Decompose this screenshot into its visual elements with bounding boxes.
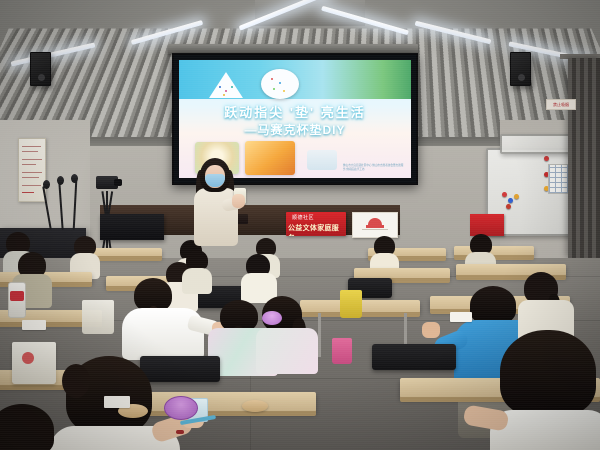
wall-speaker-left (30, 52, 51, 86)
napkin (450, 312, 472, 322)
bracelet (176, 430, 184, 434)
plastic-bag (82, 300, 114, 334)
magnet-icon (508, 198, 513, 203)
slide-title-secondary: —马赛克杯垫DIY (179, 121, 411, 138)
camera-lens-icon (114, 179, 122, 186)
yellow-bag (340, 290, 362, 318)
red-display-sign-right (470, 214, 504, 236)
desk (454, 246, 534, 256)
slide-credit-text: 佛山市大良街道社区中心 佛山市志愿者协会暨志愿服务 佛南民政手工坊 (343, 164, 405, 171)
purple-bowl (262, 311, 282, 325)
desk (88, 248, 162, 257)
mosaic-tile-dot (219, 86, 221, 88)
mosaic-tile-dot (225, 90, 227, 92)
water-bottle (8, 282, 26, 318)
wall-speaker-right (510, 52, 531, 86)
mosaic-tile-dot (283, 90, 285, 92)
magnet-icon (506, 204, 511, 209)
tote-bag (12, 342, 56, 384)
microphone-head-icon (57, 176, 64, 185)
wall-notice-text: 禁止吸烟 (547, 100, 575, 109)
white-display-sign (352, 212, 398, 238)
wall-notice-sign: 禁止吸烟 (546, 99, 576, 110)
classroom-photo: 跃动指尖 '垫' 亮生活 —马赛克杯垫DIY 佛山市大良街道社区中心 佛山市志愿… (0, 0, 600, 450)
chair (372, 344, 456, 370)
wooden-coaster (242, 400, 268, 412)
mosaic-tile-dot (273, 88, 275, 90)
napkin (104, 396, 130, 408)
slide-header-image (179, 60, 411, 99)
presenter-hand (232, 194, 245, 208)
mosaic-tile-dot (271, 78, 273, 80)
mosaic-coaster-graphic (261, 69, 299, 99)
napkin (22, 320, 46, 330)
magnet-icon (502, 192, 507, 197)
mosaic-tile-dot (231, 86, 233, 88)
mosaic-coaster-graphic (209, 72, 243, 98)
slide-photo-coaster-2 (245, 141, 295, 175)
mosaic-tile-dot (223, 94, 225, 96)
pink-bag (332, 338, 352, 364)
microphone-head-icon (43, 180, 50, 189)
magnet-icon (514, 194, 519, 199)
wall-poster-left (18, 138, 46, 202)
purple-bowl (164, 396, 198, 420)
chair (140, 356, 220, 382)
banner-line-2: 公益文体家庭服务 (288, 223, 346, 236)
lectern (100, 214, 164, 240)
mosaic-tile-dot (279, 82, 281, 84)
banner-line-1: 顺德社区 (292, 214, 314, 221)
speaker-cone-icon (518, 74, 525, 81)
magnet-icon (544, 156, 549, 161)
slide-photo-coaster-3 (307, 150, 337, 170)
presenter (186, 158, 248, 262)
window-curtain[interactable] (568, 58, 600, 258)
speaker-cone-icon (38, 74, 45, 81)
red-banner-sign: 顺德社区 公益文体家庭服务 (286, 212, 346, 236)
slide-title-primary: 跃动指尖 '垫' 亮生活 (179, 102, 411, 121)
microphone-head-icon (71, 174, 78, 183)
